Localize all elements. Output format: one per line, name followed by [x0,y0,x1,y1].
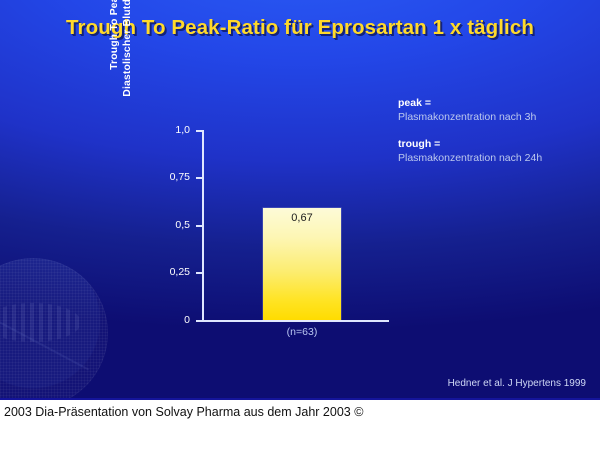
y-tick-075 [196,177,203,179]
y-tick-025 [196,272,203,274]
y-tick-label-0: 0 [146,315,190,326]
y-tick-1 [196,130,203,132]
y-tick-label-075: 0,75 [146,172,190,183]
y-tick-label-05: 0,5 [146,220,190,231]
slide: Trough To Peak-Ratio für Eprosartan 1 x … [0,0,600,398]
y-tick-05 [196,225,203,227]
footer-bar: 2003 Dia-Präsentation von Solvay Pharma … [0,398,600,463]
note-peak-desc: Plasmakonzentration nach 3h [398,110,588,124]
y-axis-title-line2: Diastolischer Blutdruck (mmHg) [121,0,134,97]
footer-text: 2003 Dia-Präsentation von Solvay Pharma … [4,405,363,419]
bar-value-label: 0,67 [263,212,341,224]
y-tick-label-025: 0,25 [146,267,190,278]
bar-eprosartan [263,208,341,320]
note-peak-term: peak = [398,96,588,110]
bar-chart: Trough To Peak-Ratio Diastolischer Blutd… [0,0,600,398]
y-axis-title: Trough To Peak-Ratio Diastolischer Blutd… [104,0,138,120]
y-axis-title-line1: Trough To Peak-Ratio [108,0,121,70]
source-citation: Hedner et al. J Hypertens 1999 [448,378,586,389]
note-trough-term: trough = [398,137,588,151]
y-tick-0 [196,320,203,322]
note-trough-desc: Plasmakonzentration nach 24h [398,151,588,165]
x-axis-category-label: (n=63) [252,326,352,338]
note-peak: peak = Plasmakonzentration nach 3h [398,96,588,124]
y-tick-label-1: 1,0 [146,125,190,136]
x-axis-line [202,320,389,322]
legend-notes: peak = Plasmakonzentration nach 3h troug… [398,96,588,178]
note-trough: trough = Plasmakonzentration nach 24h [398,137,588,165]
